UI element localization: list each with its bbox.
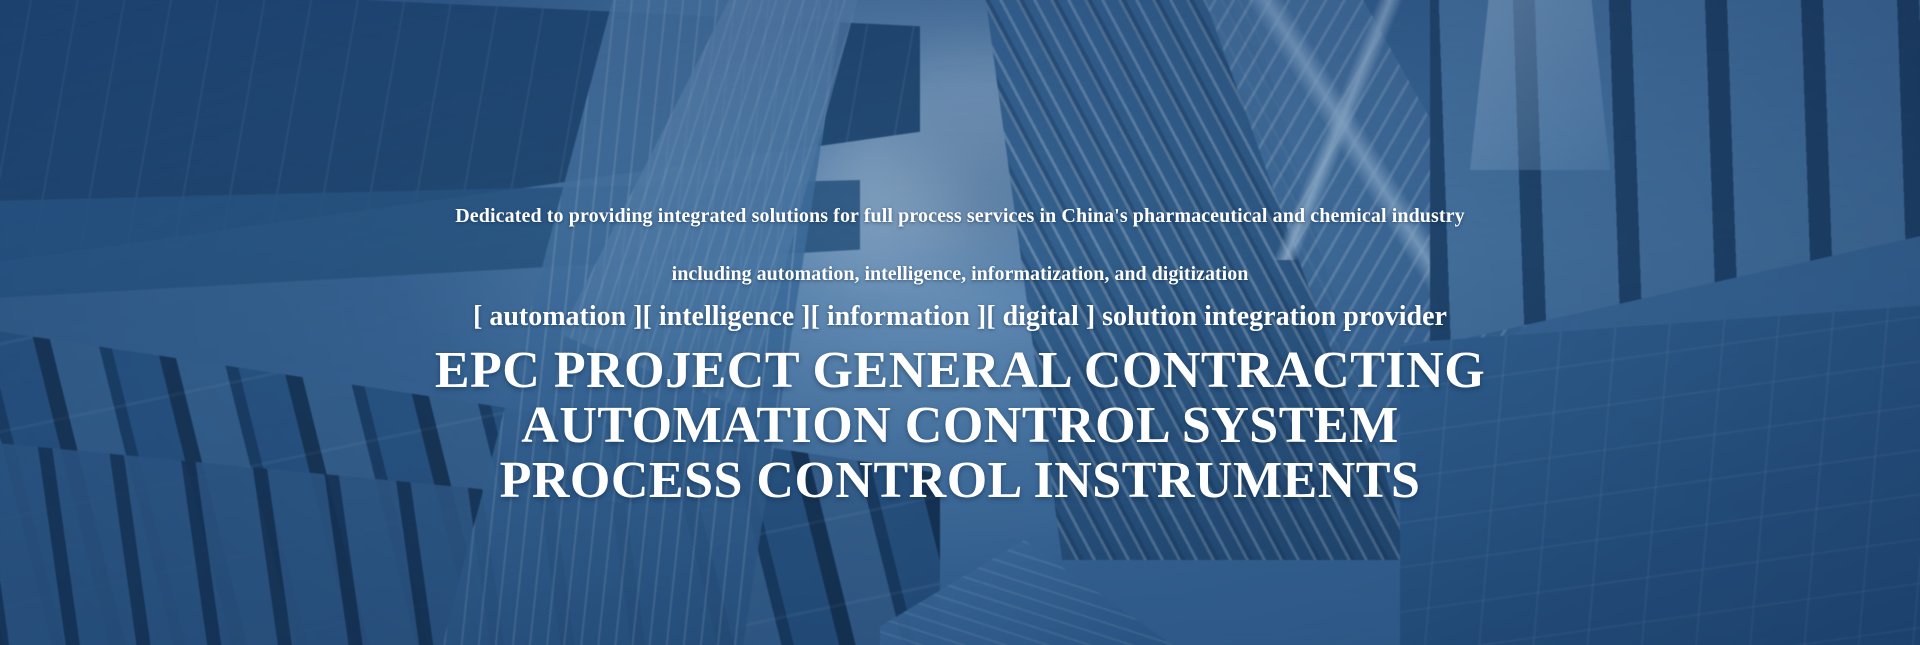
- tagline-primary: Dedicated to providing integrated soluti…: [455, 204, 1465, 228]
- hero-banner: Dedicated to providing integrated soluti…: [0, 0, 1920, 645]
- headline-group: EPC PROJECT GENERAL CONTRACTING AUTOMATI…: [435, 344, 1485, 507]
- tagline-capabilities: [ automation ][ intelligence ][ informat…: [473, 300, 1447, 334]
- banner-text-overlay: Dedicated to providing integrated soluti…: [0, 0, 1920, 645]
- headline-line-3: PROCESS CONTROL INSTRUMENTS: [435, 454, 1485, 507]
- headline-line-1: EPC PROJECT GENERAL CONTRACTING: [435, 344, 1485, 397]
- tagline-secondary: including automation, intelligence, info…: [672, 262, 1249, 286]
- headline-line-2: AUTOMATION CONTROL SYSTEM: [435, 399, 1485, 452]
